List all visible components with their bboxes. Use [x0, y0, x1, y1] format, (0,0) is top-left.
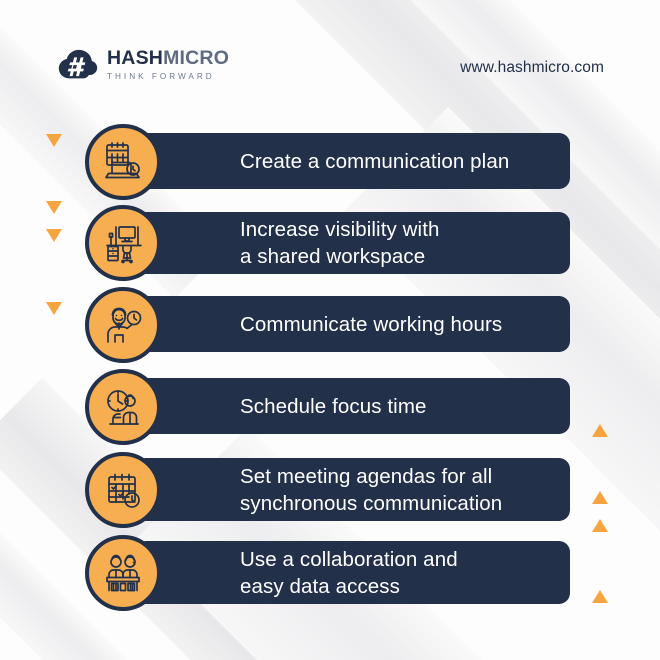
tip-label: Use a collaboration and easy data access [240, 546, 458, 600]
list-item[interactable]: Communicate working hours [85, 296, 570, 376]
tip-icon-circle[interactable] [85, 452, 161, 528]
list-item[interactable]: Increase visibility with a shared worksp… [85, 212, 570, 298]
tip-icon-circle[interactable] [85, 287, 161, 363]
list-item[interactable]: Set meeting agendas for all synchronous … [85, 458, 570, 546]
tip-icon-circle[interactable] [85, 369, 161, 445]
infographic-canvas: HASHMICRO THINK FORWARD www.hashmicro.co… [0, 0, 660, 660]
tip-bar[interactable]: Increase visibility with a shared worksp… [135, 212, 570, 274]
tip-icon-circle[interactable] [85, 124, 161, 200]
tip-bar[interactable]: Set meeting agendas for all synchronous … [135, 458, 570, 521]
list-item[interactable]: Use a collaboration and easy data access [85, 541, 570, 629]
tip-label: Schedule focus time [240, 393, 427, 420]
list-item[interactable]: Schedule focus time [85, 378, 570, 458]
tip-label: Increase visibility with a shared worksp… [240, 216, 440, 270]
tip-bar[interactable]: Schedule focus time [135, 378, 570, 434]
tips-list: Create a communication plan [0, 0, 660, 660]
calendar-clock-icon [99, 466, 147, 514]
desk-workspace-icon [99, 219, 147, 267]
calendar-laptop-icon [99, 138, 147, 186]
list-item[interactable]: Create a communication plan [85, 133, 570, 213]
tip-label: Create a communication plan [240, 148, 509, 175]
tip-label: Set meeting agendas for all synchronous … [240, 463, 502, 517]
person-holding-clock-icon [99, 301, 147, 349]
tip-bar[interactable]: Communicate working hours [135, 296, 570, 352]
tip-label: Communicate working hours [240, 311, 502, 338]
tip-bar[interactable]: Create a communication plan [135, 133, 570, 189]
tip-icon-circle[interactable] [85, 205, 161, 281]
two-people-at-desk-icon [99, 549, 147, 597]
tip-icon-circle[interactable] [85, 535, 161, 611]
tip-bar[interactable]: Use a collaboration and easy data access [135, 541, 570, 604]
clock-with-people-icon [99, 383, 147, 431]
